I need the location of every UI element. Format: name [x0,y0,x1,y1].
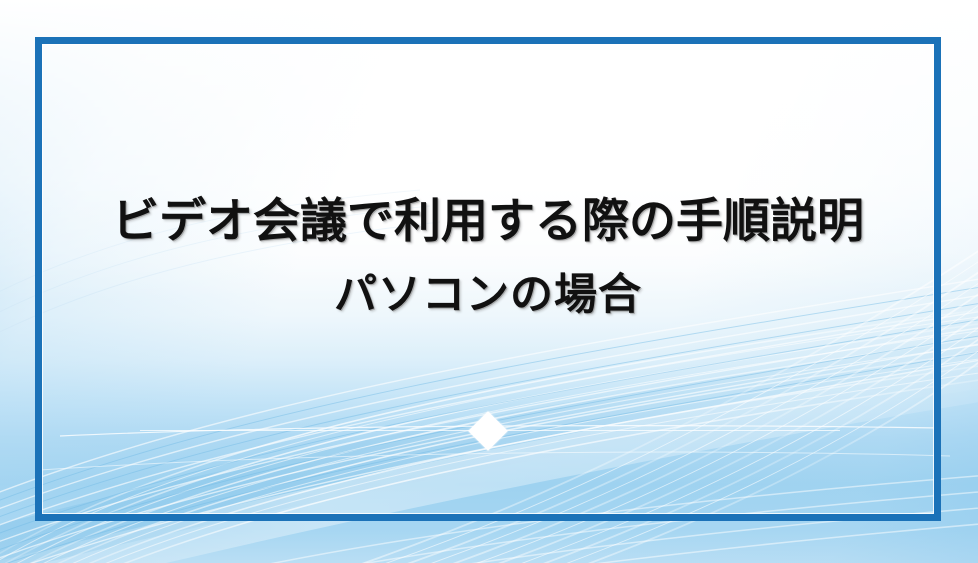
slide-title-block: ビデオ会議で利用する際の手順説明 パソコンの場合 [35,190,941,326]
slide-title-line-2: パソコンの場合 [35,264,941,326]
presentation-slide: ビデオ会議で利用する際の手順説明 パソコンの場合 [0,0,978,563]
slide-title-line-1: ビデオ会議で利用する際の手順説明 [35,190,941,252]
